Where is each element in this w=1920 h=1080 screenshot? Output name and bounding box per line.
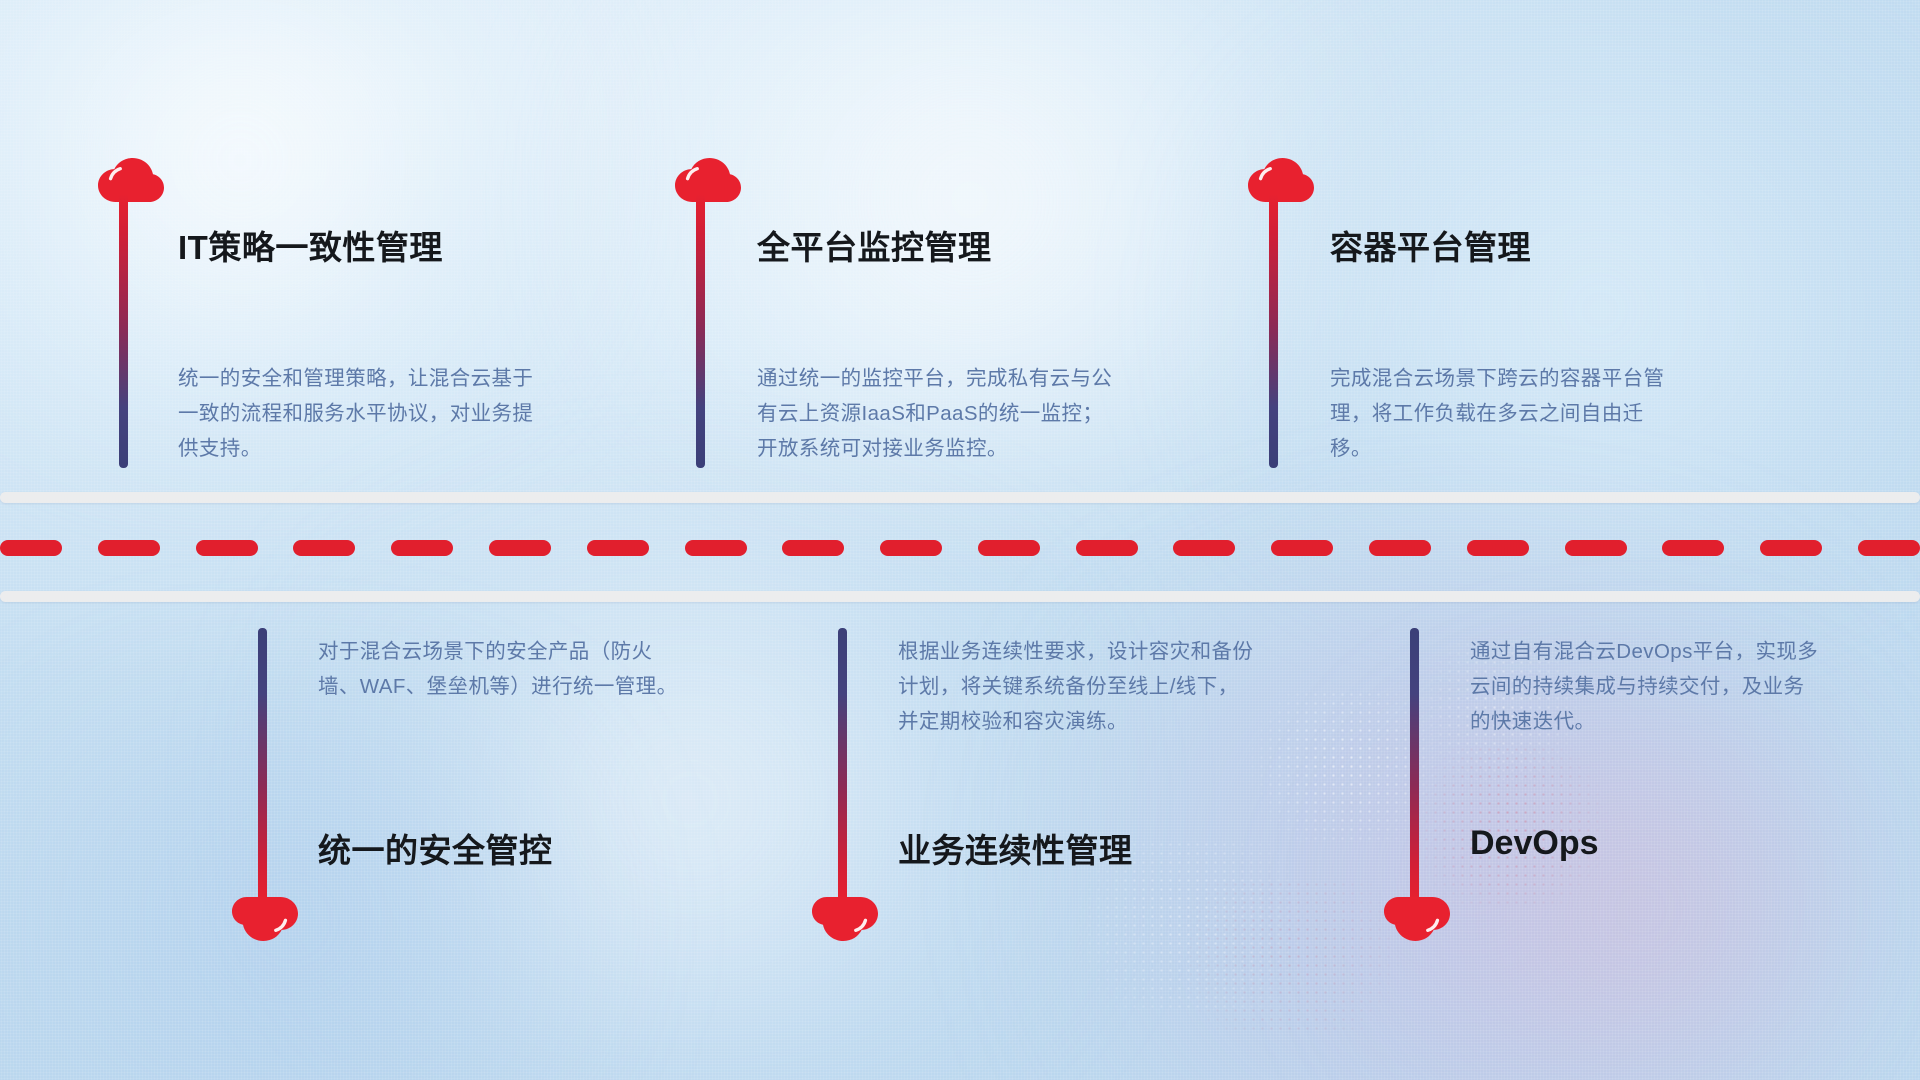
road-dash [1662,540,1724,556]
road-dash [978,540,1040,556]
stem-connector [838,628,847,902]
card-description: 通过统一的监控平台，完成私有云与公有云上资源IaaS和PaaS的统一监控；开放系… [757,361,1117,466]
card-title: 统一的安全管控 [318,824,553,872]
stem-connector [1269,194,1278,468]
card-title: DevOps [1470,824,1599,863]
road-dash [1467,540,1529,556]
road-dashed-centerline [0,540,1920,556]
road-dash [293,540,355,556]
cloud-icon [1384,895,1450,941]
road-dash [391,540,453,556]
card-description: 完成混合云场景下跨云的容器平台管理，将工作负载在多云之间自由迁移。 [1330,361,1680,466]
stem-connector [119,194,128,468]
road-dash [1858,540,1920,556]
road-dash [1173,540,1235,556]
cloud-icon [1248,158,1314,204]
stem-connector [696,194,705,468]
road-dash [880,540,942,556]
road-dash [1271,540,1333,556]
cloud-icon [675,158,741,204]
cloud-icon [98,158,164,204]
stem-connector [258,628,267,902]
road-dash [1565,540,1627,556]
cloud-icon [812,895,878,941]
road-dash [1076,540,1138,556]
road-dash [0,540,62,556]
road-dash [1369,540,1431,556]
stem-connector [1410,628,1419,902]
card-title: 业务连续性管理 [898,824,1133,872]
card-description: 通过自有混合云DevOps平台，实现多云间的持续集成与持续交付，及业务的快速迭代… [1470,634,1820,739]
road-dash [489,540,551,556]
card-description: 对于混合云场景下的安全产品（防火墙、WAF、堡垒机等）进行统一管理。 [318,634,678,704]
road-dash [1760,540,1822,556]
card-title: 全平台监控管理 [757,221,992,269]
road-dash [98,540,160,556]
road-dash [587,540,649,556]
cloud-icon [232,895,298,941]
road-dash [685,540,747,556]
infographic-canvas: IT策略一致性管理 统一的安全和管理策略，让混合云基于一致的流程和服务水平协议，… [0,0,1920,1080]
road-dash [196,540,258,556]
card-title: IT策略一致性管理 [178,221,443,269]
road-dash [782,540,844,556]
card-title: 容器平台管理 [1330,221,1531,269]
card-description: 统一的安全和管理策略，让混合云基于一致的流程和服务水平协议，对业务提供支持。 [178,361,538,466]
road-band-upper [0,492,1920,503]
road-band-lower [0,591,1920,602]
card-description: 根据业务连续性要求，设计容灾和备份计划，将关键系统备份至线上/线下，并定期校验和… [898,634,1258,739]
